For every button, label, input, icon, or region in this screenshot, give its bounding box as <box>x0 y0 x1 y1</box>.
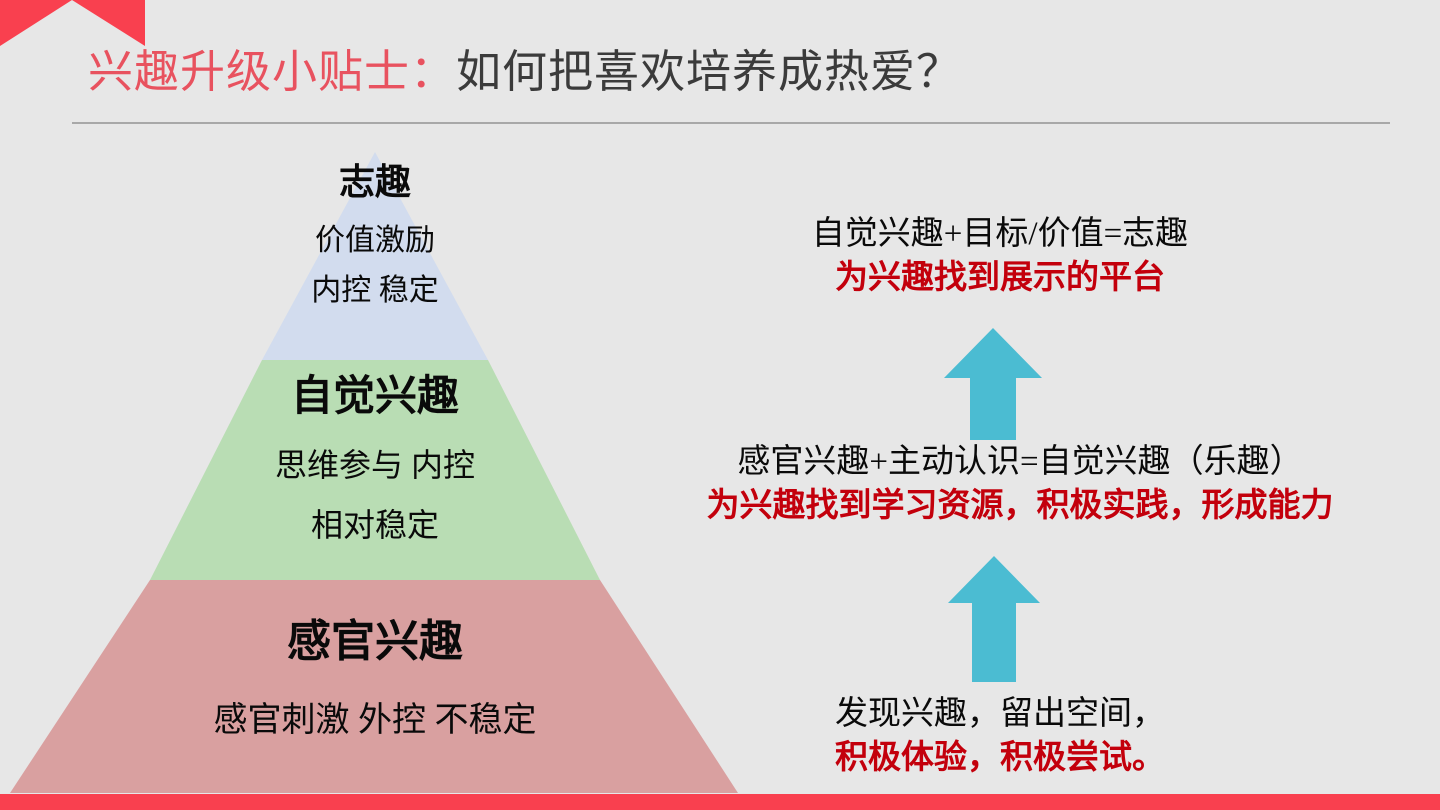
pyramid-tier-zhiqu-line-1: 价值激励 <box>215 222 535 260</box>
page-title-highlight: 兴趣升级小贴士： <box>88 47 456 97</box>
slide-canvas: 兴趣升级小贴士：如何把喜欢培养成热爱？ 志趣 价值激励 内控 稳定 自觉兴趣 思… <box>0 0 1440 810</box>
right-block-zijue-formula: 感官兴趣+主动认识=自觉兴趣（乐趣） <box>600 440 1440 484</box>
pyramid-tier-zijue-line-1: 思维参与 内控 <box>165 444 585 486</box>
right-block-zijue: 感官兴趣+主动认识=自觉兴趣（乐趣） 为兴趣找到学习资源，积极实践，形成能力 <box>600 440 1440 528</box>
right-block-zhiqu: 自觉兴趣+目标/价值=志趣 为兴趣找到展示的平台 <box>700 212 1300 300</box>
page-title: 兴趣升级小贴士：如何把喜欢培养成热爱？ <box>88 44 1388 106</box>
pyramid-tier-ganguan-shape <box>10 580 738 793</box>
pyramid-tier-zijue-line-2: 相对稳定 <box>165 504 585 546</box>
right-block-ganguan: 发现兴趣，留出空间， 积极体验，积极尝试。 <box>760 692 1240 780</box>
right-block-zijue-advice: 为兴趣找到学习资源，积极实践，形成能力 <box>600 484 1440 528</box>
right-block-zhiqu-formula: 自觉兴趣+目标/价值=志趣 <box>700 212 1300 256</box>
pyramid-tier-ganguan-line-1: 感官刺激 外控 不稳定 <box>75 698 675 744</box>
bottom-accent-bar <box>0 794 1440 810</box>
right-block-ganguan-formula: 发现兴趣，留出空间， <box>760 692 1240 736</box>
page-title-rest: 如何把喜欢培养成热爱？ <box>456 47 962 97</box>
right-block-zhiqu-advice: 为兴趣找到展示的平台 <box>700 256 1300 300</box>
pyramid-tier-zhiqu-line-2: 内控 稳定 <box>215 272 535 310</box>
pyramid-tier-zhiqu-title: 志趣 <box>235 160 515 204</box>
arrow-up-icon-upper <box>944 328 1042 440</box>
title-divider <box>72 122 1390 124</box>
pyramid-tier-zijue-title: 自觉兴趣 <box>195 370 555 422</box>
pyramid-tier-ganguan-title: 感官兴趣 <box>155 614 595 670</box>
corner-triangle-decoration <box>0 0 145 46</box>
right-block-ganguan-advice: 积极体验，积极尝试。 <box>760 736 1240 780</box>
arrow-up-icon-lower <box>948 556 1040 682</box>
